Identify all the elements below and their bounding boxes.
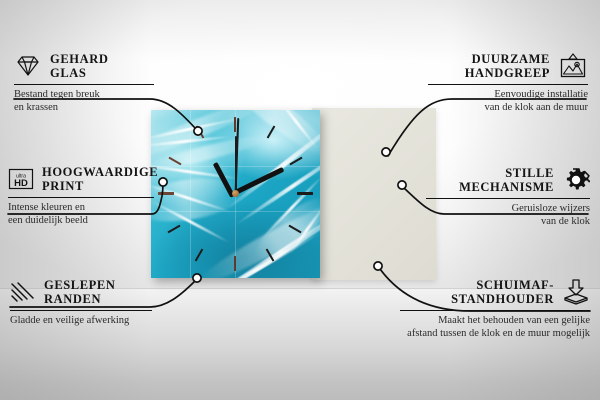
feature-title-line1: STILLE xyxy=(459,166,554,180)
feature-desc-line2: van de klok aan de muur xyxy=(428,102,588,115)
feature-stille-mechanisme[interactable]: STILLE MECHANISME Geruisloze wijzers van… xyxy=(426,166,590,228)
feature-hoogwaardige-print[interactable]: ultra HD HOOGWAARDIGE PRINT Intense kleu… xyxy=(8,165,154,227)
diagonal-lines-icon xyxy=(10,281,36,303)
feature-desc-line1: Geruisloze wijzers xyxy=(426,203,590,216)
feature-title-line2: MECHANISME xyxy=(459,180,554,194)
feature-desc-line1: Eenvoudige installatie xyxy=(428,89,588,102)
feature-desc-line2: afstand tussen de klok en de muur mogeli… xyxy=(400,328,590,341)
vignette-top xyxy=(0,0,600,60)
feature-title-line1: GESLEPEN xyxy=(44,278,116,292)
feature-divider xyxy=(428,84,588,85)
framed-picture-icon xyxy=(558,53,588,79)
wall-panel xyxy=(312,108,436,280)
feature-title-line2: HANDGREEP xyxy=(465,66,550,80)
feature-title-line2: STANDHOUDER xyxy=(451,292,554,306)
feature-title-line1: SCHUIMAF- xyxy=(451,278,554,292)
gear-icon xyxy=(562,167,590,194)
feature-title-line2: PRINT xyxy=(42,179,158,193)
feature-duurzame-handgreep[interactable]: DUURZAME HANDGREEP Eenvoudige installati… xyxy=(428,52,588,114)
feature-title-line1: HOOGWAARDIGE xyxy=(42,165,158,179)
feature-schuimaf-standhouder[interactable]: SCHUIMAF- STANDHOUDER Maakt het behouden… xyxy=(400,278,590,340)
feature-desc-line1: Maakt het behouden van een gelijke xyxy=(400,315,590,328)
diamond-icon xyxy=(14,55,42,77)
feature-title-line2: RANDEN xyxy=(44,292,116,306)
feature-gehard-glas[interactable]: GEHARD GLAS Bestand tegen breuk en krass… xyxy=(14,52,154,114)
feature-divider xyxy=(400,310,590,311)
ultra-hd-icon-bottom-text: HD xyxy=(14,178,28,189)
feature-title-line2: GLAS xyxy=(50,66,108,80)
ultra-hd-icon: ultra HD xyxy=(8,167,34,191)
feature-title-line1: GEHARD xyxy=(50,52,108,66)
feature-desc-line1: Gladde en veilige afwerking xyxy=(10,315,152,328)
feature-divider xyxy=(14,84,154,85)
feature-desc-line2: van de klok xyxy=(426,216,590,229)
feature-divider xyxy=(426,198,590,199)
feature-divider xyxy=(10,310,152,311)
feature-desc-line1: Intense kleuren en xyxy=(8,202,154,215)
feature-desc-line1: Bestand tegen breuk xyxy=(14,89,154,102)
feature-desc-line2: een duidelijk beeld xyxy=(8,215,154,228)
infographic-canvas: GEHARD GLAS Bestand tegen breuk en krass… xyxy=(0,0,600,400)
press-down-pad-icon xyxy=(562,279,590,305)
feature-divider xyxy=(8,197,154,198)
glass-wall-clock xyxy=(151,110,320,278)
feature-geslepen-randen[interactable]: GESLEPEN RANDEN Gladde en veilige afwerk… xyxy=(10,278,152,328)
feature-desc-line2: en krassen xyxy=(14,102,154,115)
feature-title-line1: DUURZAME xyxy=(465,52,550,66)
clock-center-cap xyxy=(232,190,239,197)
